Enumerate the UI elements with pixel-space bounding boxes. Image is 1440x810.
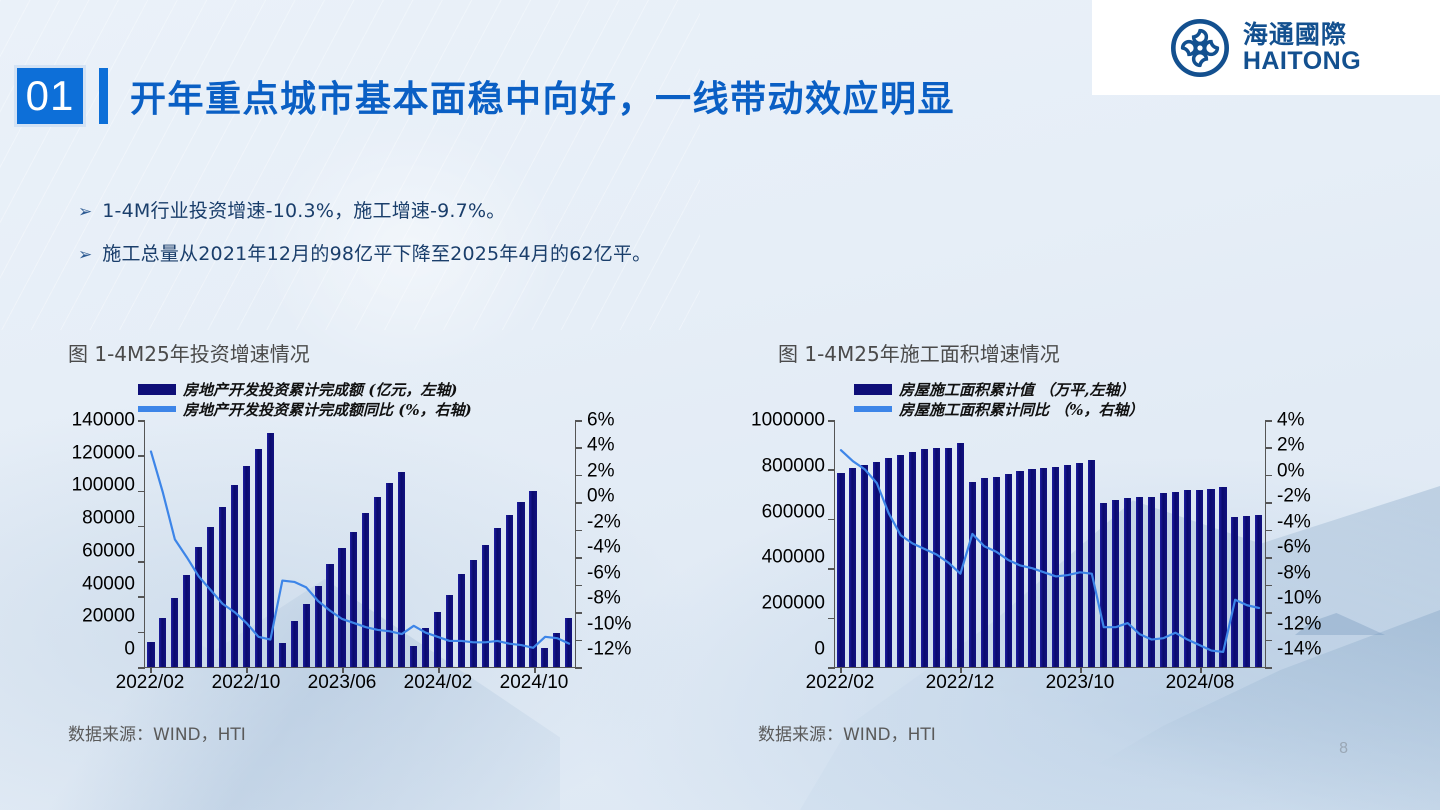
- y-axis-left-tickmark: [138, 420, 145, 422]
- y-axis-left-tickmark: [828, 519, 835, 521]
- y-axis-left-tick: 40000: [82, 574, 144, 593]
- chevron-right-icon: ➢: [78, 203, 92, 220]
- line-path: [151, 452, 569, 648]
- y-axis-right-tickmark: [1265, 420, 1272, 422]
- legend-label: 房屋施工面积累计值 （万平,左轴）: [899, 379, 1134, 400]
- y-axis-right-tick: 2%: [1266, 436, 1304, 455]
- y-axis-left-tickmark: [138, 455, 145, 457]
- logo-text-cn: 海通國際: [1243, 22, 1361, 47]
- y-axis-right-tickmark: [575, 502, 582, 504]
- y-axis-right-tickmark: [575, 667, 582, 669]
- x-axis-tick-label: 2024/08: [1166, 672, 1235, 694]
- plot-area: [144, 420, 576, 668]
- plot-area-wrapper: 140000120000100000800006000040000200000 …: [60, 420, 660, 668]
- y-axis-left-tickmark: [828, 420, 835, 422]
- chart-caption: 图 1-4M25年投资增速情况: [68, 338, 660, 367]
- x-axis-tick-label: 2023/06: [308, 672, 377, 694]
- y-axis-right-tick: -2%: [576, 512, 621, 531]
- line-series: [145, 420, 575, 667]
- bullet-list: ➢ 1-4M行业投资增速-10.3%，施工增速-9.7%。 ➢ 施工总量从202…: [78, 196, 651, 282]
- section-header: 01 开年重点城市基本面稳中向好，一线带动效应明显: [14, 65, 955, 127]
- chart-investment-growth: 图 1-4M25年投资增速情况 房地产开发投资累计完成额 (亿元，左轴) 房地产…: [60, 338, 660, 745]
- y-axis-right: 4%2%0%-2%-4%-6%-8%-10%-12%-14%: [1266, 420, 1350, 668]
- y-axis-left-tickmark: [828, 469, 835, 471]
- legend-label: 房地产开发投资累计完成额 (亿元，左轴): [183, 379, 457, 400]
- x-axis-tick-label: 2022/02: [806, 672, 875, 694]
- y-axis-right-tickmark: [575, 612, 582, 614]
- legend-entry: 房地产开发投资累计完成额 (亿元，左轴): [138, 379, 660, 399]
- y-axis-left-tick: 140000: [72, 411, 144, 430]
- x-axis-tick-label: 2022/02: [116, 672, 185, 694]
- y-axis-right-tickmark: [575, 420, 582, 422]
- bullet-text: 1-4M行业投资增速-10.3%，施工增速-9.7%。: [102, 196, 505, 223]
- y-axis-right-tickmark: [1265, 612, 1272, 614]
- line-series: [835, 420, 1265, 667]
- logo-text-en: HAITONG: [1243, 49, 1361, 74]
- legend-line-swatch-icon: [854, 406, 892, 412]
- y-axis-left-tick: 0: [814, 639, 834, 658]
- x-axis-tick-label: 2024/02: [404, 672, 473, 694]
- y-axis-right-tickmark: [575, 557, 582, 559]
- list-item: ➢ 1-4M行业投资增速-10.3%，施工增速-9.7%。: [78, 196, 651, 223]
- legend-label: 房地产开发投资累计完成额同比 (%，右轴): [183, 399, 472, 420]
- y-axis-right-tick: -4%: [1266, 512, 1311, 531]
- bullet-text: 施工总量从2021年12月的98亿平下降至2025年4月的62亿平。: [102, 239, 651, 266]
- legend-entry: 房屋施工面积累计值 （万平,左轴）: [854, 379, 1350, 399]
- legend-bar-swatch-icon: [854, 384, 892, 395]
- x-axis: 2022/022022/102023/062024/022024/10: [60, 672, 660, 702]
- y-axis-right-tickmark: [1265, 640, 1272, 642]
- y-axis-left-tickmark: [138, 526, 145, 528]
- y-axis-right-tickmark: [575, 475, 582, 477]
- y-axis-left-tickmark: [828, 618, 835, 620]
- y-axis-right-tickmark: [1265, 667, 1272, 669]
- y-axis-right-tickmark: [1265, 447, 1272, 449]
- y-axis-left-tick: 80000: [82, 509, 144, 528]
- brand-logo: 海通國際 HAITONG: [1092, 0, 1440, 95]
- y-axis-right-tickmark: [1265, 530, 1272, 532]
- y-axis-left-tick: 0: [124, 639, 144, 658]
- y-axis-right-tick: -4%: [576, 538, 621, 557]
- page-number: 8: [1339, 740, 1348, 758]
- section-number-badge: 01: [14, 65, 86, 127]
- page-title: 开年重点城市基本面稳中向好，一线带动效应明显: [130, 70, 955, 122]
- y-axis-left: 10000008000006000004000002000000: [750, 420, 834, 668]
- y-axis-right-tick: -12%: [1266, 614, 1321, 633]
- y-axis-right-tick: 2%: [576, 461, 614, 480]
- haitong-swirl-emblem-icon: [1171, 19, 1229, 77]
- y-axis-right-tick: -6%: [1266, 538, 1311, 557]
- x-axis: 2022/022022/122023/102024/08: [750, 672, 1350, 702]
- header-accent-bar: [99, 68, 108, 124]
- y-axis-right-tick: 0%: [1266, 461, 1304, 480]
- section-number: 01: [26, 72, 75, 120]
- y-axis-left-tick: 20000: [82, 607, 144, 626]
- y-axis-right-tickmark: [575, 585, 582, 587]
- y-axis-left-tick: 600000: [762, 502, 834, 521]
- y-axis-left-tickmark: [828, 667, 835, 669]
- plot-area: [834, 420, 1266, 668]
- y-axis-right-tick: -12%: [576, 639, 631, 658]
- y-axis-left-tickmark: [138, 561, 145, 563]
- y-axis-left-tick: 200000: [762, 594, 834, 613]
- y-axis-left-tick: 120000: [72, 443, 144, 462]
- y-axis-right-tickmark: [1265, 585, 1272, 587]
- y-axis-right-tickmark: [1265, 557, 1272, 559]
- x-axis-tick-label: 2022/12: [926, 672, 995, 694]
- y-axis-right-tick: -8%: [1266, 563, 1311, 582]
- y-axis-left-tickmark: [828, 568, 835, 570]
- y-axis-left-tick: 1000000: [751, 411, 834, 430]
- y-axis-right-tickmark: [1265, 502, 1272, 504]
- y-axis-left-tick: 100000: [72, 476, 144, 495]
- x-axis-tick-label: 2023/10: [1046, 672, 1115, 694]
- y-axis-right-tick: -2%: [1266, 487, 1311, 506]
- plot-area-wrapper: 10000008000006000004000002000000 4%2%0%-…: [750, 420, 1350, 668]
- y-axis-left-tickmark: [138, 596, 145, 598]
- y-axis-left-tickmark: [138, 632, 145, 634]
- chart-source: 数据来源：WIND，HTI: [68, 720, 660, 745]
- chevron-right-icon: ➢: [78, 246, 92, 263]
- chart-construction-area-growth: 图 1-4M25年施工面积增速情况 房屋施工面积累计值 （万平,左轴） 房屋施工…: [750, 338, 1350, 745]
- y-axis-left-tickmark: [138, 491, 145, 493]
- y-axis-right-tickmark: [575, 447, 582, 449]
- y-axis-right-tickmark: [575, 640, 582, 642]
- x-axis-tick-label: 2024/10: [500, 672, 569, 694]
- chart-source: 数据来源：WIND，HTI: [758, 720, 1350, 745]
- y-axis-right-tick: -10%: [576, 614, 631, 633]
- y-axis-left-tick: 60000: [82, 541, 144, 560]
- y-axis-right-tick: -10%: [1266, 589, 1321, 608]
- y-axis-right-tick: -8%: [576, 589, 621, 608]
- y-axis-right: 6%4%2%0%-2%-4%-6%-8%-10%-12%: [576, 420, 660, 668]
- y-axis-left: 140000120000100000800006000040000200000: [60, 420, 144, 668]
- y-axis-right-tickmark: [1265, 475, 1272, 477]
- y-axis-left-tick: 400000: [762, 548, 834, 567]
- y-axis-right-tick: -6%: [576, 563, 621, 582]
- legend-label: 房屋施工面积累计同比 （%，右轴）: [899, 399, 1143, 420]
- list-item: ➢ 施工总量从2021年12月的98亿平下降至2025年4月的62亿平。: [78, 239, 651, 266]
- chart-caption: 图 1-4M25年施工面积增速情况: [778, 338, 1350, 367]
- y-axis-right-tick: 4%: [576, 436, 614, 455]
- line-path: [841, 450, 1259, 652]
- y-axis-right-tickmark: [575, 530, 582, 532]
- y-axis-right-tick: -14%: [1266, 639, 1321, 658]
- legend-bar-swatch-icon: [138, 384, 176, 395]
- x-axis-tick-label: 2022/10: [212, 672, 281, 694]
- y-axis-left-tickmark: [138, 667, 145, 669]
- y-axis-left-tick: 800000: [762, 456, 834, 475]
